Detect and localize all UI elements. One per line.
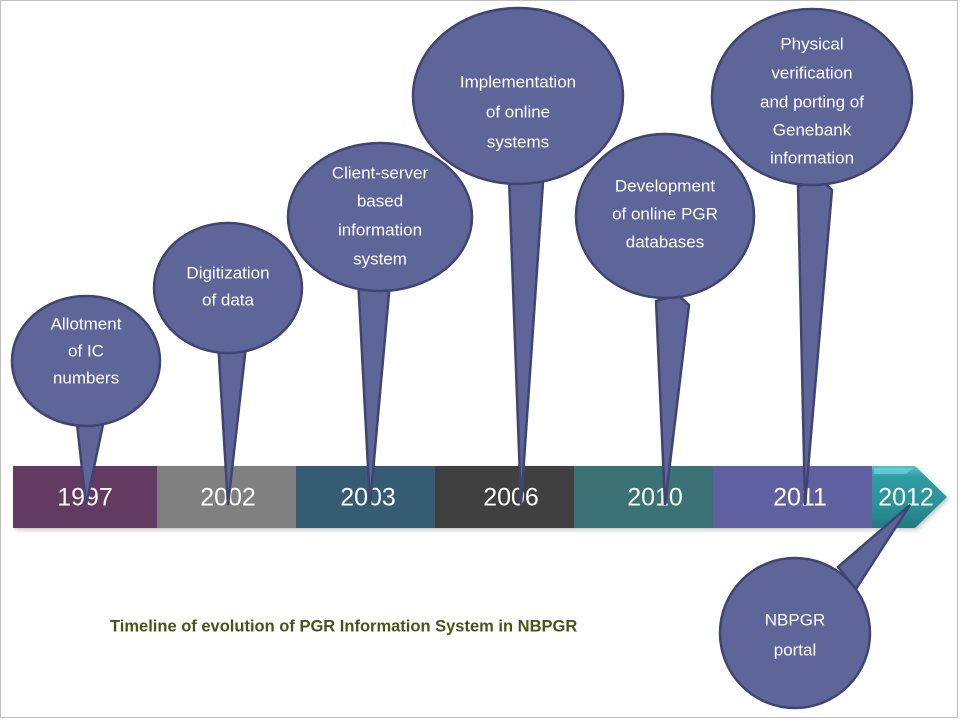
callout-line: Implementation — [460, 72, 576, 91]
callout-line: and porting of — [760, 92, 864, 111]
callout-client-server-based-information-system[interactable]: Client-server based information system — [288, 143, 472, 505]
timeline-diagram: 1997 2002 2003 2006 2010 2011 2012 Allot… — [0, 0, 960, 720]
timeline-canvas: 1997 2002 2003 2006 2010 2011 2012 Allot… — [0, 0, 960, 720]
callout-development-of-online-pgr-databases[interactable]: Development of online PGR databases — [576, 134, 754, 505]
callout-bubble — [413, 8, 623, 184]
callout-bubble — [720, 558, 870, 708]
callout-line: of IC — [68, 341, 104, 360]
callout-bubble — [154, 223, 302, 353]
callout-line: Client-server — [332, 163, 429, 182]
callout-line: databases — [626, 232, 704, 251]
callout-pointer — [798, 180, 832, 505]
callout-pointer — [509, 172, 543, 505]
timeline-year-label: 2010 — [627, 484, 683, 512]
callout-line: systems — [487, 132, 549, 151]
callout-line: information — [770, 148, 854, 167]
callout-line: portal — [774, 640, 817, 659]
timeline-year-label: 2006 — [483, 484, 539, 512]
callout-line: Development — [615, 176, 715, 195]
diagram-caption: Timeline of evolution of PGR Information… — [110, 617, 577, 635]
callout-line: of online — [486, 102, 550, 121]
callout-line: of data — [202, 290, 255, 309]
callout-line: NBPGR — [765, 610, 825, 629]
timeline-year-label: 2011 — [773, 484, 827, 512]
callout-line: system — [353, 249, 407, 268]
callout-line: of online PGR — [612, 204, 718, 223]
callout-line: Allotment — [51, 314, 122, 333]
callout-line: Physical — [780, 34, 843, 53]
callout-line: Digitization — [186, 263, 269, 282]
callout-line: Genebank — [773, 120, 852, 139]
callout-nbpgr-portal[interactable]: NBPGR portal — [720, 505, 910, 708]
callout-line: verification — [771, 63, 852, 82]
callout-line: based — [357, 191, 403, 210]
callout-digitization-of-data[interactable]: Digitization of data — [154, 223, 302, 505]
callout-line: information — [338, 220, 422, 239]
callout-line: numbers — [53, 368, 119, 387]
